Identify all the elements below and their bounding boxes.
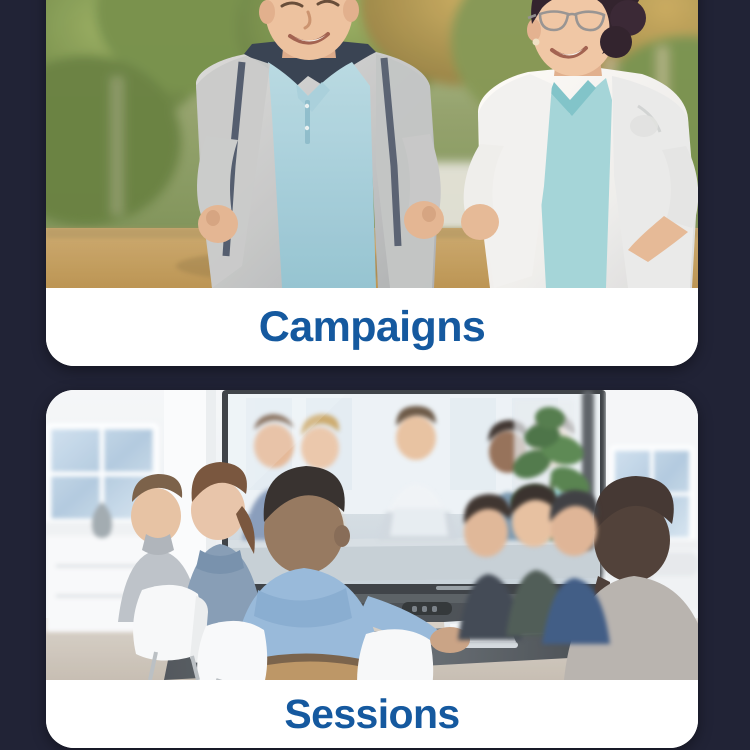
sessions-caption: Sessions — [46, 680, 698, 748]
card-sessions[interactable]: Sessions — [46, 390, 698, 748]
page-root: Campaigns — [0, 0, 750, 750]
campaigns-photo — [46, 0, 698, 288]
campaigns-photo-illustration — [46, 0, 698, 288]
sessions-photo — [46, 390, 698, 680]
campaigns-title: Campaigns — [259, 306, 485, 349]
campaigns-caption: Campaigns — [46, 288, 698, 366]
sessions-title: Sessions — [284, 694, 459, 735]
card-campaigns[interactable]: Campaigns — [46, 0, 698, 366]
sessions-photo-illustration — [46, 390, 698, 680]
